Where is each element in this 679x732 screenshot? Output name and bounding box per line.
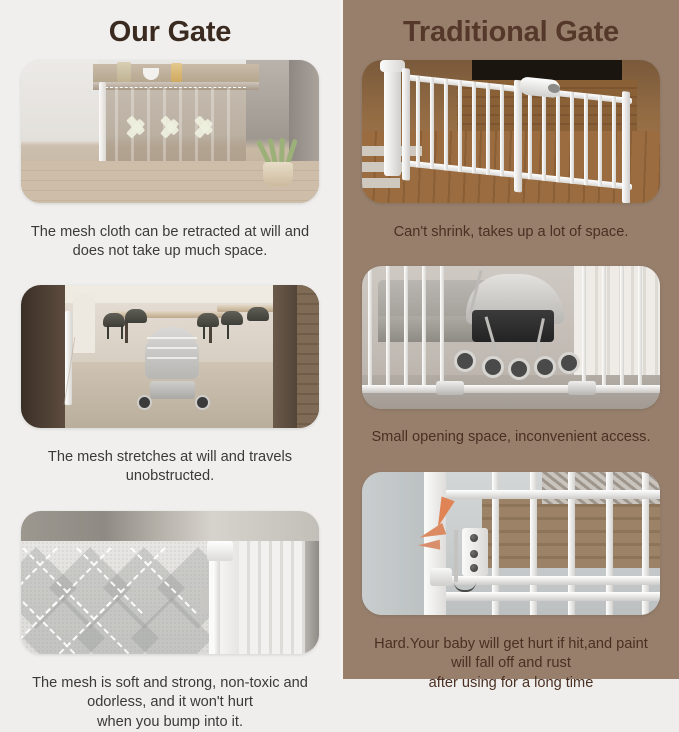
our-gate-caption-1: The mesh cloth can be retracted at will … <box>0 218 340 262</box>
our-gate-cell-2: The mesh stretches at will and travels u… <box>0 276 340 487</box>
chevron-left-icon <box>163 100 185 160</box>
chevron-left-icon <box>197 100 219 160</box>
impact-arrow-icon <box>418 540 440 551</box>
photo-stroller-passing-open-mesh-gate <box>21 285 319 428</box>
our-gate-caption-2: The mesh stretches at will and travels u… <box>0 443 340 487</box>
traditional-gate-column: Traditional Gate <box>340 0 679 679</box>
our-gate-caption-3: The mesh is soft and strong, non-toxic a… <box>0 669 340 732</box>
traditional-gate-cell-3: Hard.Your baby will get hurt if hit,and … <box>343 462 679 693</box>
our-gate-cell-1: The mesh cloth can be retracted at will … <box>0 58 340 262</box>
our-gate-cell-3: The mesh is soft and strong, non-toxic a… <box>0 501 340 732</box>
traditional-gate-caption-3: Hard.Your baby will get hurt if hit,and … <box>343 630 679 694</box>
comparison-infographic: Our Gate <box>0 0 679 679</box>
traditional-gate-cell-2: Small opening space, inconvenient access… <box>343 257 679 448</box>
photo-hard-metal-gate-latch-hazard <box>362 472 660 615</box>
photo-soft-mesh-fabric-closeup <box>21 511 319 654</box>
our-gate-column: Our Gate <box>0 0 340 679</box>
traditional-gate-caption-2: Small opening space, inconvenient access… <box>343 423 679 448</box>
traditional-gate-cell-1: Can't shrink, takes up a lot of space. <box>343 58 679 242</box>
chevron-left-icon <box>129 100 151 160</box>
photo-retractable-mesh-gate-kitchen <box>21 60 319 203</box>
photo-stroller-blocked-narrow-gate-opening <box>362 266 660 409</box>
our-gate-title: Our Gate <box>0 0 340 58</box>
photo-metal-gate-on-stairs-landing <box>362 60 660 203</box>
traditional-gate-caption-1: Can't shrink, takes up a lot of space. <box>343 218 679 243</box>
traditional-gate-title: Traditional Gate <box>343 0 679 58</box>
